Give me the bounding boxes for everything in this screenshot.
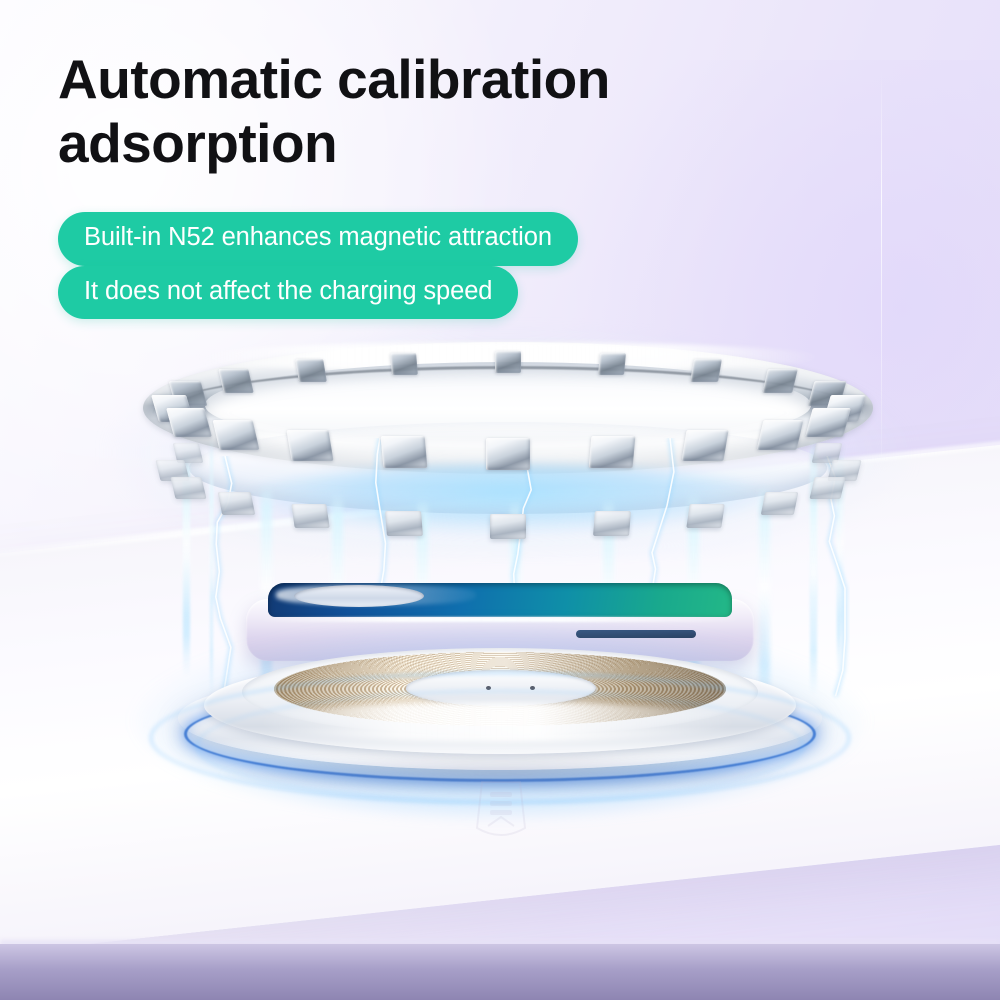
magnet-segment: [213, 420, 260, 450]
floor-band: [0, 944, 1000, 1000]
magnet-segment-lower: [291, 504, 329, 528]
magnet-segment: [598, 353, 626, 375]
magnet-segment-lower: [809, 477, 845, 499]
magnet-segment: [589, 436, 635, 468]
magnet-ring: [143, 336, 873, 526]
magnet-segment: [756, 420, 803, 450]
magnet-segment: [381, 436, 427, 468]
magnet-segment-lower: [217, 492, 255, 515]
magnet-segment: [682, 430, 729, 461]
magnet-segment-lower: [490, 514, 526, 539]
magnet-segment: [166, 408, 212, 437]
magnet-segment: [287, 430, 334, 461]
magnet-segment: [690, 359, 722, 382]
magnet-segment-lower: [686, 504, 724, 528]
product-marketing-image: Automatic calibration adsorption Built-i…: [0, 0, 1000, 1000]
magnet-segment: [390, 353, 418, 375]
magnet-segment-lower: [593, 511, 631, 536]
badge-magnetic-attraction: Built-in N52 enhances magnetic attractio…: [58, 212, 578, 266]
magnet-segment-lower: [385, 511, 423, 536]
phone-camera-lens: [294, 585, 424, 607]
feature-badge-list: Built-in N52 enhances magnetic attractio…: [58, 212, 578, 319]
magnet-segment-lower: [761, 492, 799, 515]
page-title: Automatic calibration adsorption: [58, 48, 818, 176]
magnet-segment-lower: [170, 477, 206, 499]
badge-charging-speed: It does not affect the charging speed: [58, 266, 518, 320]
magnet-segment: [805, 408, 851, 437]
magnet-segment: [762, 369, 797, 393]
magnet-segment: [486, 438, 530, 470]
brand-watermark: [470, 778, 532, 844]
magnet-segment: [295, 359, 327, 382]
magnet-segment: [219, 369, 254, 393]
